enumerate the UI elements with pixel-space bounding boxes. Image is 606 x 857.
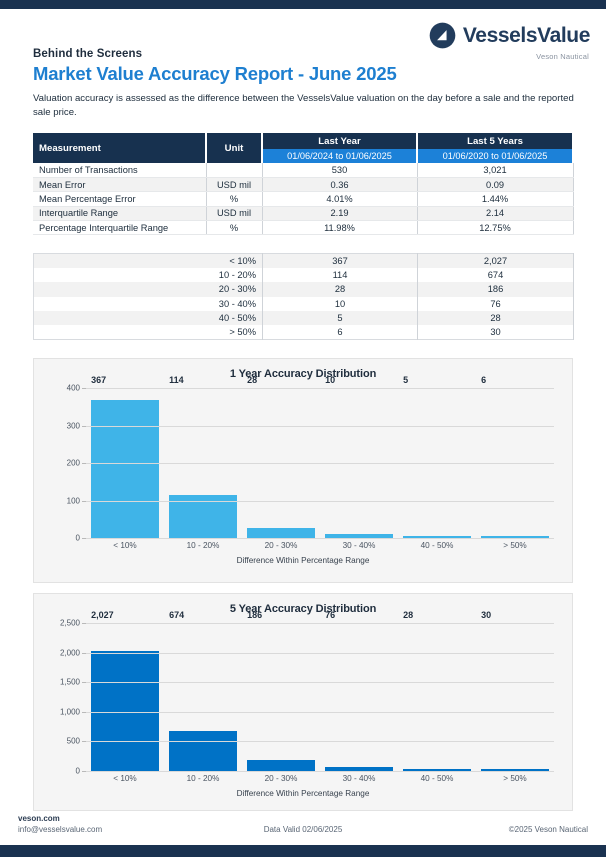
chart-panel-5-year: 5 Year Accuracy Distribution Number of T… (33, 593, 573, 811)
chart-gridline (86, 501, 554, 502)
chart-y-tick-label: 400 (67, 384, 80, 393)
cell-last-year: 530 (262, 163, 417, 177)
chart-gridline (86, 712, 554, 713)
chart-x-tick-label: 10 - 20% (169, 774, 237, 783)
chart-panel-1-year: 1 Year Accuracy Distribution Number of T… (33, 358, 573, 583)
cell-unit: % (206, 192, 262, 206)
chart-gridline (86, 741, 554, 742)
cell-last-year: 10 (263, 297, 418, 311)
cell-measurement: Mean Percentage Error (33, 192, 206, 206)
cell-last-year: 11.98% (262, 221, 417, 235)
cell-measurement: Interquartile Range (33, 206, 206, 220)
cell-last-year: 367 (263, 254, 418, 268)
summary-table: Measurement Unit Last Year Last 5 Years … (33, 133, 574, 235)
report-kicker: Behind the Screens (33, 48, 142, 60)
chart-bar-value-label: 367 (91, 375, 106, 385)
chart-x-tick-label: 40 - 50% (403, 774, 471, 783)
chart-gridline (86, 623, 554, 624)
chart-gridline (86, 463, 554, 464)
cell-last-year: 2.19 (262, 206, 417, 220)
chart-gridline (86, 682, 554, 683)
cell-last-5-years: 186 (418, 282, 574, 296)
logo-wordmark: VesselsValue (463, 25, 590, 46)
bottom-accent-bar (0, 845, 606, 857)
chart-y-tick-label: 1,500 (60, 678, 80, 687)
table-row: 10 - 20% 114 674 (34, 268, 574, 282)
table-row: Interquartile Range USD mil 2.19 2.14 (33, 206, 573, 220)
table-row: 30 - 40% 10 76 (34, 297, 574, 311)
chart-bar-value-label: 674 (169, 610, 184, 620)
report-page: VesselsValue Veson Nautical Behind the S… (0, 0, 606, 857)
table-row: 20 - 30% 28 186 (34, 282, 574, 296)
chart-y-tick-label: 0 (76, 767, 80, 776)
chart-bars: 2,027674186762830 (86, 623, 554, 771)
chart-x-tick-label: > 50% (481, 541, 549, 550)
chart-y-tick-label: 1,000 (60, 707, 80, 716)
cell-last-year: 28 (263, 282, 418, 296)
chart-bar-value-label: 5 (403, 375, 408, 385)
table-row: > 50% 6 30 (34, 325, 574, 339)
cell-last-5-years: 30 (418, 325, 574, 339)
cell-last-year: 6 (263, 325, 418, 339)
cell-range: 30 - 40% (34, 297, 263, 311)
col-unit: Unit (206, 133, 262, 163)
cell-range: 40 - 50% (34, 311, 263, 325)
cell-range: < 10% (34, 254, 263, 268)
chart-bar-column: 674 (169, 623, 237, 771)
col-last-year: Last Year (262, 133, 417, 149)
cell-last-5-years: 3,021 (417, 163, 573, 177)
subcol-last-year-range: 01/06/2024 to 01/06/2025 (262, 149, 417, 163)
chart-bar-value-label: 6 (481, 375, 486, 385)
chart-x-tick-label: 30 - 40% (325, 541, 393, 550)
chart-gridline (86, 538, 554, 539)
chart-x-tick-label: < 10% (91, 541, 159, 550)
chart-bar-value-label: 186 (247, 610, 262, 620)
chart-plot-area: Number of Transactions 367114281056 0100… (86, 388, 554, 538)
chart-bar: 28 (247, 528, 315, 539)
cell-measurement: Percentage Interquartile Range (33, 221, 206, 235)
cell-unit: USD mil (206, 206, 262, 220)
cell-last-year: 4.01% (262, 192, 417, 206)
chart-plot-area: Number of Transactions 2,027674186762830… (86, 623, 554, 771)
cell-last-5-years: 674 (418, 268, 574, 282)
cell-last-year: 0.36 (262, 177, 417, 191)
cell-last-5-years: 2,027 (418, 254, 574, 268)
chart-gridline (86, 426, 554, 427)
cell-unit (206, 163, 262, 177)
table-header-row: Measurement Unit Last Year Last 5 Years (33, 133, 573, 149)
chart-y-tick-label: 200 (67, 459, 80, 468)
cell-last-year: 5 (263, 311, 418, 325)
chart-title: 5 Year Accuracy Distribution (34, 594, 572, 615)
chart-x-tick-label: 10 - 20% (169, 541, 237, 550)
top-accent-bar (0, 0, 606, 9)
chart-x-tick-label: 20 - 30% (247, 541, 315, 550)
col-measurement: Measurement (33, 133, 206, 163)
footer-website[interactable]: veson.com (18, 814, 102, 823)
chart-x-tick-label: 30 - 40% (325, 774, 393, 783)
chart-bar-value-label: 30 (481, 610, 491, 620)
chart-y-tick-label: 100 (67, 496, 80, 505)
table-row: 40 - 50% 5 28 (34, 311, 574, 325)
subcol-last-5-years-range: 01/06/2020 to 01/06/2025 (417, 149, 573, 163)
chart-x-tick-label: 40 - 50% (403, 541, 471, 550)
cell-last-5-years: 12.75% (417, 221, 573, 235)
cell-last-5-years: 2.14 (417, 206, 573, 220)
chart-y-tick-label: 0 (76, 534, 80, 543)
page-title: Market Value Accuracy Report - June 2025 (33, 63, 397, 85)
chart-bar-value-label: 28 (403, 610, 413, 620)
chart-bar-column: 28 (403, 623, 471, 771)
cell-range: > 50% (34, 325, 263, 339)
page-footer: veson.com info@vesselsvalue.com Data Val… (0, 811, 606, 845)
chart-y-tick-label: 2,000 (60, 648, 80, 657)
cell-last-5-years: 76 (418, 297, 574, 311)
cell-last-5-years: 1.44% (417, 192, 573, 206)
cell-range: 10 - 20% (34, 268, 263, 282)
chart-bar-column: 186 (247, 623, 315, 771)
chart-x-tick-label: 20 - 30% (247, 774, 315, 783)
chart-bar-column: 76 (325, 623, 393, 771)
chart-gridline (86, 771, 554, 772)
chart-bar: 367 (91, 400, 159, 538)
chart-x-tick-label: > 50% (481, 774, 549, 783)
cell-measurement: Number of Transactions (33, 163, 206, 177)
cell-measurement: Mean Error (33, 177, 206, 191)
chart-bar-column: 2,027 (91, 623, 159, 771)
chart-bar: 114 (169, 495, 237, 538)
report-description: Valuation accuracy is assessed as the di… (33, 92, 578, 120)
table-row: Percentage Interquartile Range % 11.98% … (33, 221, 573, 235)
footer-copyright: ©2025 Veson Nautical (509, 825, 588, 834)
chart-gridline (86, 653, 554, 654)
chart-bar-value-label: 28 (247, 375, 257, 385)
table-row: Number of Transactions 530 3,021 (33, 163, 573, 177)
cell-last-5-years: 0.09 (417, 177, 573, 191)
chart-title: 1 Year Accuracy Distribution (34, 359, 572, 380)
chart-x-axis-label: Difference Within Percentage Range (34, 789, 572, 798)
chart-bar-column: 30 (481, 623, 549, 771)
brand-logo: VesselsValue Veson Nautical (429, 22, 590, 61)
table-row: Mean Error USD mil 0.36 0.09 (33, 177, 573, 191)
chart-x-tick-label: < 10% (91, 774, 159, 783)
chart-y-tick-label: 500 (67, 737, 80, 746)
chart-gridline (86, 388, 554, 389)
cell-unit: USD mil (206, 177, 262, 191)
chart-y-tick-label: 2,500 (60, 619, 80, 628)
chart-y-tick-label: 300 (67, 421, 80, 430)
chart-bar-value-label: 76 (325, 610, 335, 620)
chart-x-tick-labels: < 10%10 - 20%20 - 30%30 - 40%40 - 50%> 5… (86, 541, 554, 550)
chart-bar: 186 (247, 760, 315, 771)
chart-bar-value-label: 2,027 (91, 610, 114, 620)
chart-x-axis-label: Difference Within Percentage Range (34, 556, 572, 565)
table-row: < 10% 367 2,027 (34, 254, 574, 268)
cell-last-5-years: 28 (418, 311, 574, 325)
distribution-table: < 10% 367 2,027 10 - 20% 114 674 20 - 30… (33, 253, 574, 340)
chart-bar: 674 (169, 731, 237, 771)
chart-bar-value-label: 114 (169, 375, 184, 385)
chart-x-tick-labels: < 10%10 - 20%20 - 30%30 - 40%40 - 50%> 5… (86, 774, 554, 783)
chart-bar-value-label: 10 (325, 375, 335, 385)
col-last-5-years: Last 5 Years (417, 133, 573, 149)
triangle-in-circle-icon (429, 22, 456, 49)
table-row: Mean Percentage Error % 4.01% 1.44% (33, 192, 573, 206)
logo-tagline: Veson Nautical (536, 52, 589, 61)
cell-range: 20 - 30% (34, 282, 263, 296)
cell-last-year: 114 (263, 268, 418, 282)
cell-unit: % (206, 221, 262, 235)
